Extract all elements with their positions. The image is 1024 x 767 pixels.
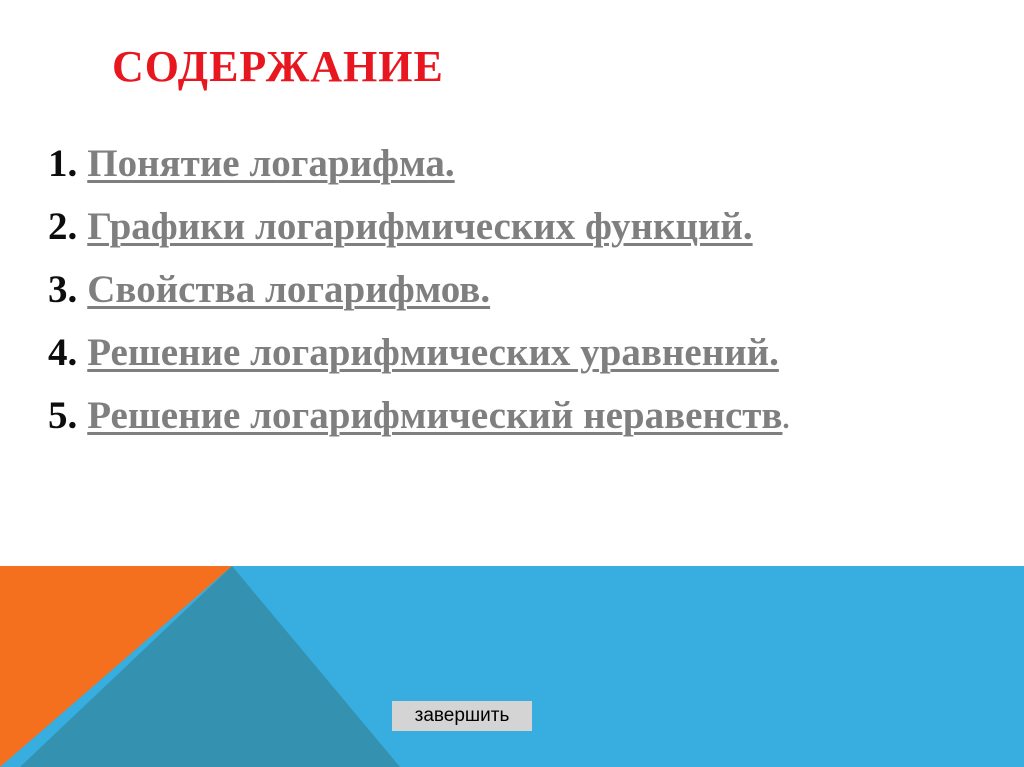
toc-link-reshenie-logarifmicheskiy-neravenstv[interactable]: Решение логарифмический неравенств [87,394,782,438]
page-title: СОДЕРЖАНИЕ [112,42,444,92]
finish-button[interactable]: завершить [392,701,532,731]
list-item-number: 1. [48,142,77,186]
list-item-number: 5. [48,394,77,438]
list-item[interactable]: 3. Свойства логарифмов. [48,268,988,331]
list-item[interactable]: 5. Решение логарифмический неравенств . [48,394,988,457]
toc-link-grafiki-logarifmicheskih-funkciy[interactable]: Графики логарифмических функций. [87,205,752,249]
list-item-number: 3. [48,268,77,312]
decorative-banner [0,566,1024,767]
list-item[interactable]: 4. Решение логарифмических уравнений. [48,331,988,394]
toc-link-svoystva-logarifmov[interactable]: Свойства логарифмов. [87,268,490,312]
presentation-slide: СОДЕРЖАНИЕ 1. Понятие логарифма. 2. Граф… [0,0,1024,767]
list-item[interactable]: 1. Понятие логарифма. [48,142,988,205]
toc-link-ponyatie-logarifma[interactable]: Понятие логарифма. [87,142,454,186]
list-item-number: 4. [48,331,77,375]
list-item-tail: . [782,398,789,442]
toc-link-reshenie-logarifmicheskih-uravneniy[interactable]: Решение логарифмических уравнений. [87,331,779,375]
list-item[interactable]: 2. Графики логарифмических функций. [48,205,988,268]
banner-shapes-svg [0,566,1024,767]
list-item-number: 2. [48,205,77,249]
table-of-contents: 1. Понятие логарифма. 2. Графики логариф… [48,142,988,457]
